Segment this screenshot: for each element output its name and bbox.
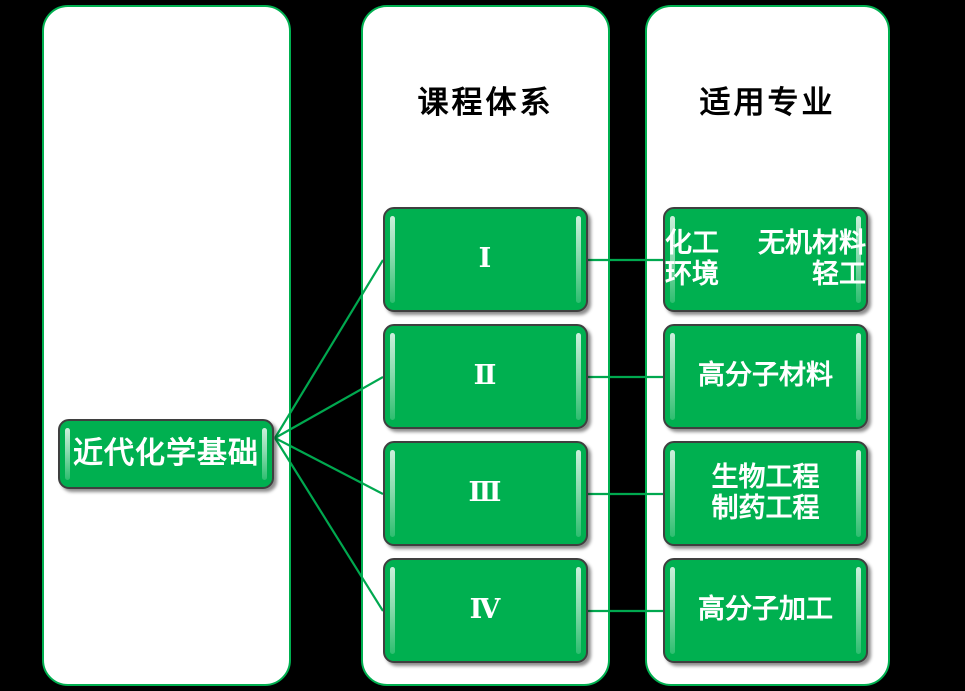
- node-major-group-4-label: 高分子加工: [698, 595, 833, 625]
- node-major-group-2[interactable]: 高分子材料: [663, 324, 868, 429]
- node-course-system-iii-label: Ⅲ: [469, 478, 503, 508]
- panel-applicable-majors-title: 适用专业: [647, 77, 888, 122]
- node-major-group-1-line-1: 化工 无机材料: [665, 229, 866, 259]
- major-chemical-engineering: 化工: [665, 229, 719, 259]
- major-light-industry: 轻工: [812, 260, 866, 290]
- node-root-label: 近代化学基础: [73, 437, 259, 471]
- node-major-group-2-label: 高分子材料: [698, 361, 833, 391]
- major-inorganic-materials: 无机材料: [758, 229, 866, 259]
- node-course-system-i-label: Ⅰ: [479, 244, 493, 274]
- panel-left: [42, 5, 291, 686]
- major-bioengineering: 生物工程: [712, 463, 820, 493]
- node-course-system-iii[interactable]: Ⅲ: [383, 441, 588, 546]
- node-major-group-1-label: 化工 无机材料 环境 轻工: [665, 229, 866, 289]
- node-major-group-1-line-2: 环境 轻工: [665, 260, 866, 290]
- major-polymer-processing: 高分子加工: [698, 594, 833, 625]
- node-course-system-iv[interactable]: Ⅳ: [383, 558, 588, 663]
- node-course-system-iv-label: Ⅳ: [470, 595, 502, 625]
- major-environment: 环境: [665, 260, 719, 290]
- node-course-system-i[interactable]: Ⅰ: [383, 207, 588, 312]
- node-root-modern-chemistry-foundation[interactable]: 近代化学基础: [58, 419, 274, 489]
- major-polymer-materials: 高分子材料: [698, 360, 833, 391]
- node-course-system-ii[interactable]: Ⅱ: [383, 324, 588, 429]
- node-major-group-3[interactable]: 生物工程 制药工程: [663, 441, 868, 546]
- node-major-group-3-label: 生物工程 制药工程: [712, 463, 820, 523]
- major-pharmaceutical-engineering: 制药工程: [712, 494, 820, 524]
- node-major-group-4[interactable]: 高分子加工: [663, 558, 868, 663]
- node-course-system-ii-label: Ⅱ: [474, 361, 498, 391]
- node-major-group-1[interactable]: 化工 无机材料 环境 轻工: [663, 207, 868, 312]
- diagram-canvas: 课程体系 适用专业 近代化学基础 Ⅰ Ⅱ Ⅲ Ⅳ: [0, 0, 965, 691]
- panel-course-system-title: 课程体系: [363, 77, 608, 122]
